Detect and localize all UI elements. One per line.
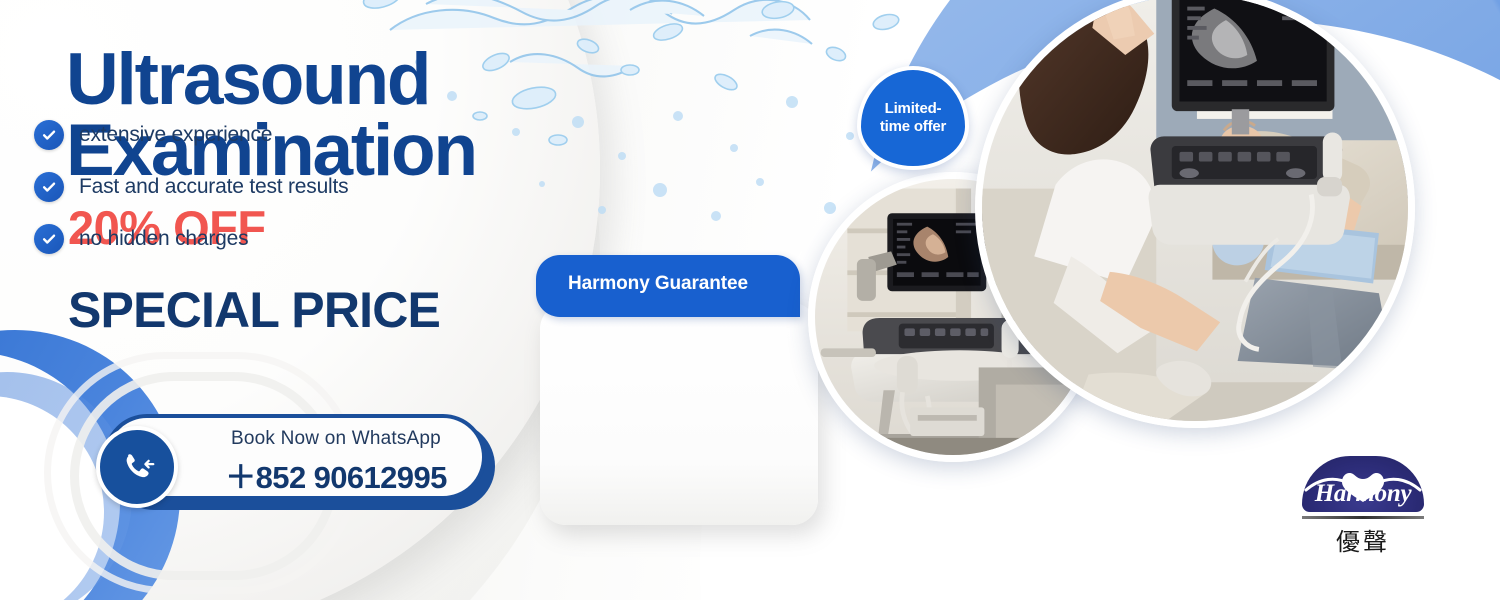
guarantee-list: extensive experience Fast and accurate t… <box>34 120 348 276</box>
ultrasound-exam-photo <box>975 0 1415 428</box>
promo-banner: Ultrasound Examination 20% OFF SPECIAL P… <box>0 0 1500 600</box>
whatsapp-label: Book Now on WhatsApp <box>202 428 470 450</box>
whatsapp-text-group: Book Now on WhatsApp ＋852 90612995 <box>202 428 470 497</box>
guarantee-item-label: extensive experience <box>79 123 272 147</box>
check-circle-icon <box>34 172 64 202</box>
logo-chinese-name: 優聲 <box>1302 522 1424 557</box>
logo-dome-shape: Harmony <box>1302 456 1424 512</box>
badge-line-1: Limited- <box>885 100 942 117</box>
list-item: Fast and accurate test results <box>34 172 348 202</box>
special-price-text: SPECIAL PRICE <box>68 281 476 339</box>
whatsapp-cta-button[interactable]: Book Now on WhatsApp ＋852 90612995 <box>96 412 496 512</box>
list-item: extensive experience <box>34 120 348 150</box>
guarantee-title: Harmony Guarantee <box>568 273 748 295</box>
headline-line-1: Ultrasound <box>66 46 476 113</box>
harmony-logo: Harmony 優聲 <box>1302 456 1424 557</box>
harmony-guarantee-card: Harmony Guarantee <box>536 255 822 530</box>
logo-divider <box>1302 516 1424 519</box>
list-item: no hidden charges <box>34 224 348 254</box>
logo-wordmark: Harmony <box>1302 480 1424 508</box>
badge-line-2: time offer <box>880 118 946 135</box>
guarantee-item-label: no hidden charges <box>79 227 248 251</box>
whatsapp-phone-number[interactable]: ＋852 90612995 <box>202 452 470 497</box>
check-circle-icon <box>34 120 64 150</box>
guarantee-card-body <box>540 303 818 525</box>
badge-text: Limited- time offer <box>880 100 946 135</box>
check-circle-icon <box>34 224 64 254</box>
phone-incoming-icon <box>96 426 178 508</box>
guarantee-card-header: Harmony Guarantee <box>536 255 800 317</box>
guarantee-item-label: Fast and accurate test results <box>79 175 348 199</box>
